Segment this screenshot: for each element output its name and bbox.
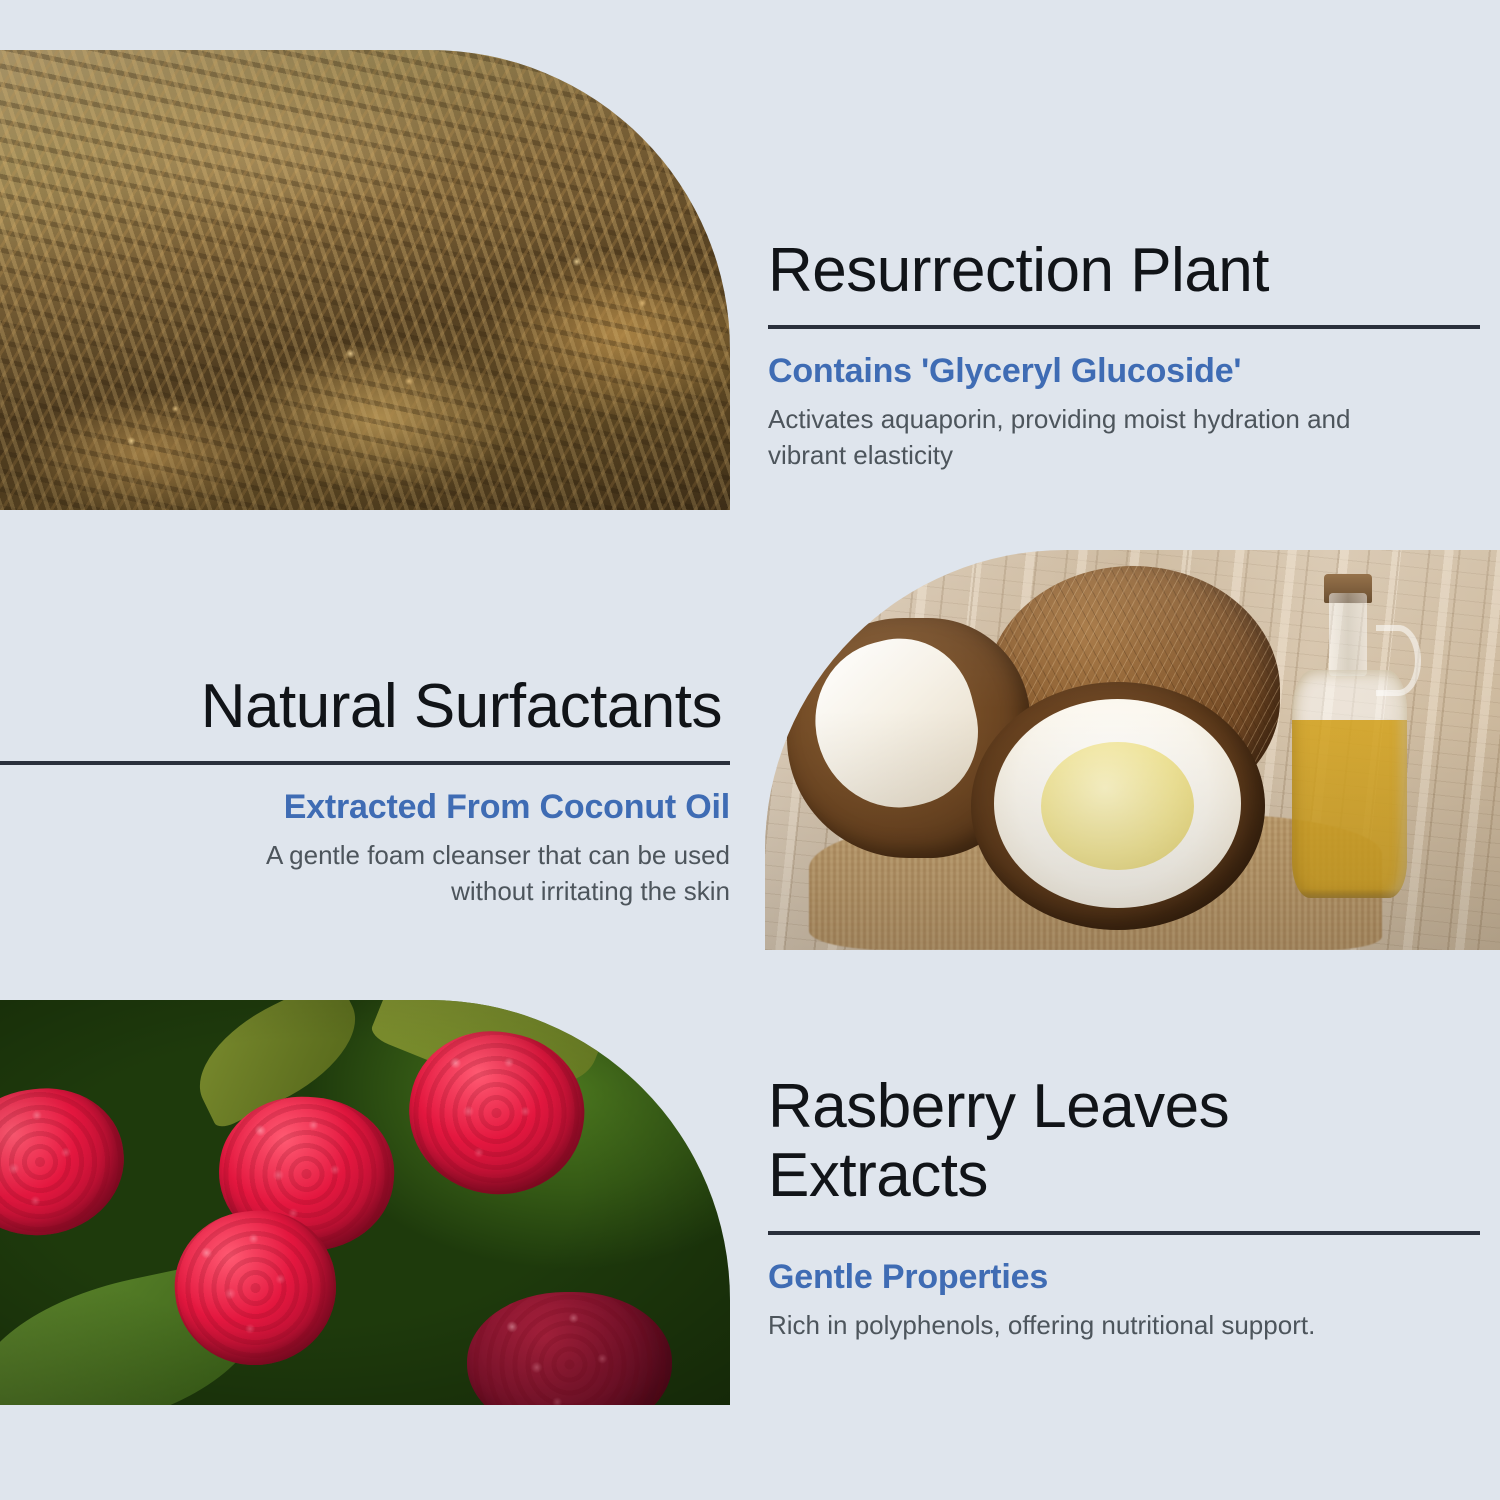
section-subtitle: Contains 'Glyceryl Glucoside' <box>768 351 1480 392</box>
photo-vignette <box>0 1000 730 1405</box>
section-body: A gentle foam cleanser that can be used … <box>0 838 730 909</box>
section-title: Resurrection Plant <box>768 236 1480 305</box>
section-resurrection-plant: Resurrection Plant Contains 'Glyceryl Gl… <box>768 236 1480 473</box>
raspberry-photo <box>0 1000 730 1405</box>
coconut-oil-photo <box>765 550 1500 950</box>
infographic-canvas: Resurrection Plant Contains 'Glyceryl Gl… <box>0 0 1500 1500</box>
title-divider <box>768 325 1480 329</box>
photo-gloss-overlay <box>765 550 1500 950</box>
section-subtitle: Extracted From Coconut Oil <box>0 787 730 828</box>
section-title: Rasberry Leaves Extracts <box>768 1072 1480 1211</box>
section-natural-surfactants: Natural Surfactants Extracted From Cocon… <box>0 672 730 909</box>
section-body: Rich in polyphenols, offering nutritiona… <box>768 1308 1480 1343</box>
section-subtitle: Gentle Properties <box>768 1257 1480 1298</box>
section-title: Natural Surfactants <box>0 672 730 741</box>
section-body: Activates aquaporin, providing moist hyd… <box>768 402 1480 473</box>
title-divider <box>0 761 730 765</box>
resurrection-plant-photo <box>0 50 730 510</box>
section-rasberry-leaves-extracts: Rasberry Leaves Extracts Gentle Properti… <box>768 1072 1480 1343</box>
title-divider <box>768 1231 1480 1235</box>
